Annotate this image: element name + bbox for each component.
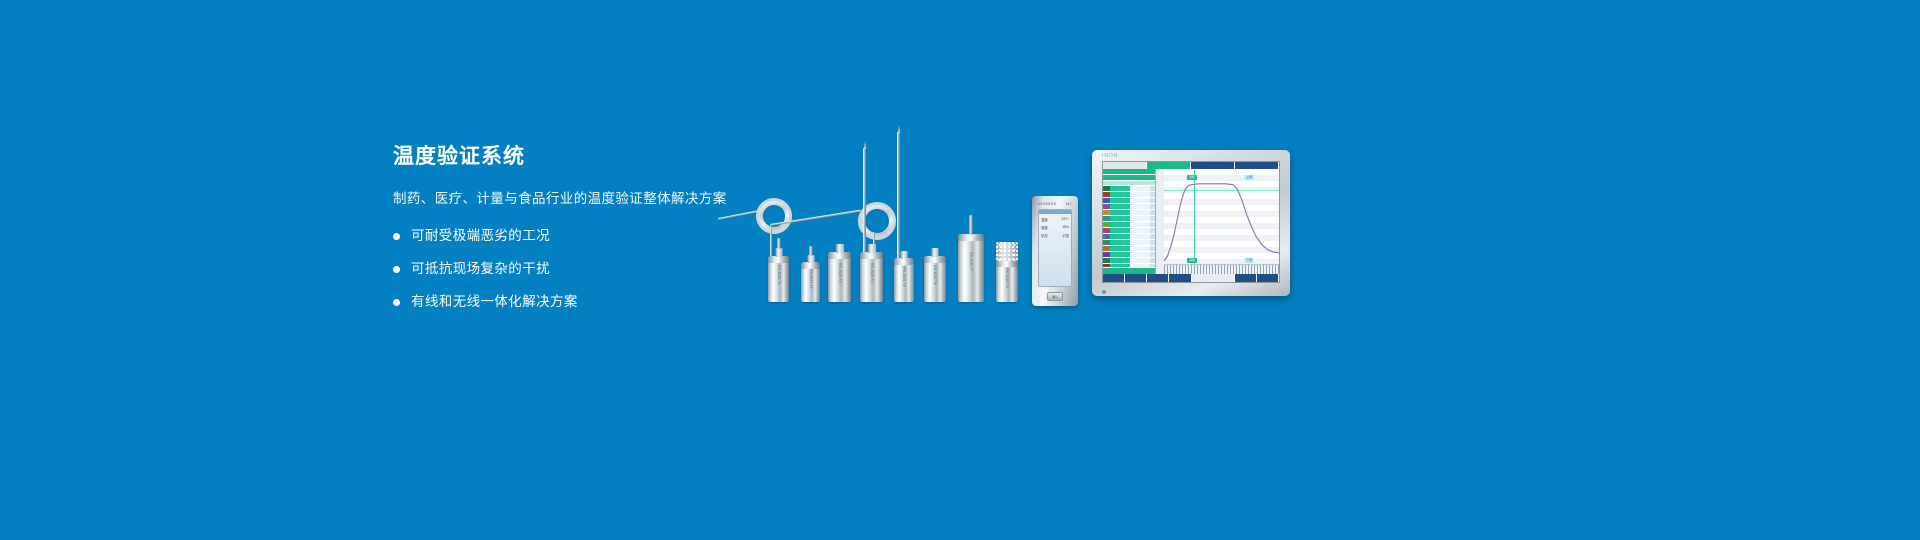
screen-top-tabbar	[1103, 162, 1279, 169]
logger-cap	[801, 262, 820, 269]
logger-label: RS-1020-T6	[933, 266, 937, 285]
logger-stem	[970, 215, 973, 235]
logger-stem	[809, 246, 812, 256]
sintered-filter-cap	[996, 242, 1018, 261]
logger-neck	[836, 244, 844, 253]
monitor-brand: INON	[1102, 153, 1119, 159]
tab-spacer	[1103, 162, 1147, 169]
data-logger-cylinder: RS-1020-T1	[768, 256, 789, 302]
logger-cap	[894, 258, 914, 265]
logger-cap	[768, 256, 789, 263]
data-logger-cylinder: RS-1020-T5	[894, 258, 914, 302]
bullet-label: 可耐受极端恶劣的工况	[411, 226, 550, 246]
data-logger-cylinder: RS-1020-T4	[860, 252, 883, 302]
data-logger-cylinder: RS-1020-T3	[828, 252, 851, 302]
button-data-query[interactable]	[1125, 274, 1147, 282]
logger-neck	[775, 248, 782, 257]
logger-neck	[932, 248, 939, 257]
logger-label: RS-1020-T2	[809, 270, 813, 289]
logger-cap	[958, 234, 984, 241]
needle-probe	[863, 148, 866, 266]
handheld-reader-device[interactable]: INONIKE M1 温度 25℃ 湿度 48% 状态 记录 确认	[1032, 196, 1078, 306]
logger-label: RS-1020-T8	[1005, 268, 1009, 287]
handheld-brand-row: INONIKE M1	[1038, 201, 1072, 206]
logger-cap	[860, 252, 883, 259]
logger-label: RS-1020-T1	[777, 266, 781, 285]
logger-stem	[777, 238, 780, 249]
logger-cap	[924, 256, 946, 263]
data-logger-cylinder-tall: RS-1020-T7	[958, 234, 984, 302]
tab-system-settings[interactable]	[1235, 162, 1279, 169]
channel-table-footer	[1103, 267, 1155, 274]
logger-neck	[901, 251, 908, 259]
reading-value: 48%	[1062, 225, 1069, 230]
handheld-reading-row: 温度 25℃	[1039, 217, 1071, 222]
logger-cap	[828, 252, 851, 259]
data-logger-cylinder: RS-1020-T2	[801, 262, 820, 302]
bullet-dot-icon	[393, 233, 400, 240]
channel-rows	[1103, 186, 1155, 267]
handheld-reading-row: 状态 记录	[1039, 233, 1071, 238]
logger-label: RS-1020-T7	[969, 252, 973, 271]
product-group-image: RS-1020-T1 RS-1020-T2 RS-1020-T3 RS-1020…	[700, 110, 1260, 320]
data-logger-cylinder: RS-1020-T6	[924, 256, 946, 302]
logger-neck	[868, 244, 876, 253]
bullet-dot-icon	[393, 299, 400, 306]
hero-banner: 温度验证系统 制药、医疗、计量与食品行业的温度验证整体解决方案 可耐受极端恶劣的…	[0, 0, 1920, 540]
bullet-dot-icon	[393, 266, 400, 273]
logger-neck	[807, 255, 814, 263]
tab-data-acquisition[interactable]	[1147, 162, 1191, 169]
logger-label: RS-1020-T4	[870, 263, 874, 282]
needle-probe	[897, 132, 900, 266]
reading-label: 温度	[1041, 217, 1048, 222]
logger-label: RS-1020-T5	[902, 267, 906, 286]
handheld-confirm-button[interactable]: 确认	[1047, 292, 1063, 301]
bullet-label: 可抵抗现场复杂的干扰	[411, 259, 550, 279]
monitor-indicator-led	[1102, 290, 1106, 294]
logger-label: RS-1020-T3	[838, 263, 842, 282]
tab-report-print[interactable]	[1191, 162, 1235, 169]
validation-monitor: INON	[1092, 150, 1290, 296]
monitor-screen: 光标 基线 上限 下限	[1102, 161, 1280, 283]
data-logger-cylinder-short: RS-1020-T8	[996, 260, 1018, 302]
handheld-screen-titlebar	[1039, 210, 1071, 214]
reading-value: 25℃	[1061, 217, 1069, 222]
logger-cap	[996, 260, 1018, 267]
reading-label: 湿度	[1041, 225, 1048, 230]
handheld-screen: 温度 25℃ 湿度 48% 状态 记录	[1038, 209, 1072, 287]
handheld-reading-row: 湿度 48%	[1039, 225, 1071, 230]
temperature-chart: 光标 基线 上限 下限	[1156, 169, 1279, 274]
reading-label: 状态	[1041, 233, 1048, 238]
bullet-label: 有线和无线一体化解决方案	[411, 292, 578, 312]
screen-body: 光标 基线 上限 下限	[1103, 169, 1279, 274]
handheld-brand: INONIKE	[1038, 201, 1057, 206]
chart-x-axis	[1164, 264, 1279, 274]
button-parameter-setting[interactable]	[1103, 274, 1125, 282]
handheld-model: M1	[1066, 201, 1072, 206]
reading-value: 记录	[1062, 233, 1069, 238]
channel-table	[1103, 169, 1156, 274]
